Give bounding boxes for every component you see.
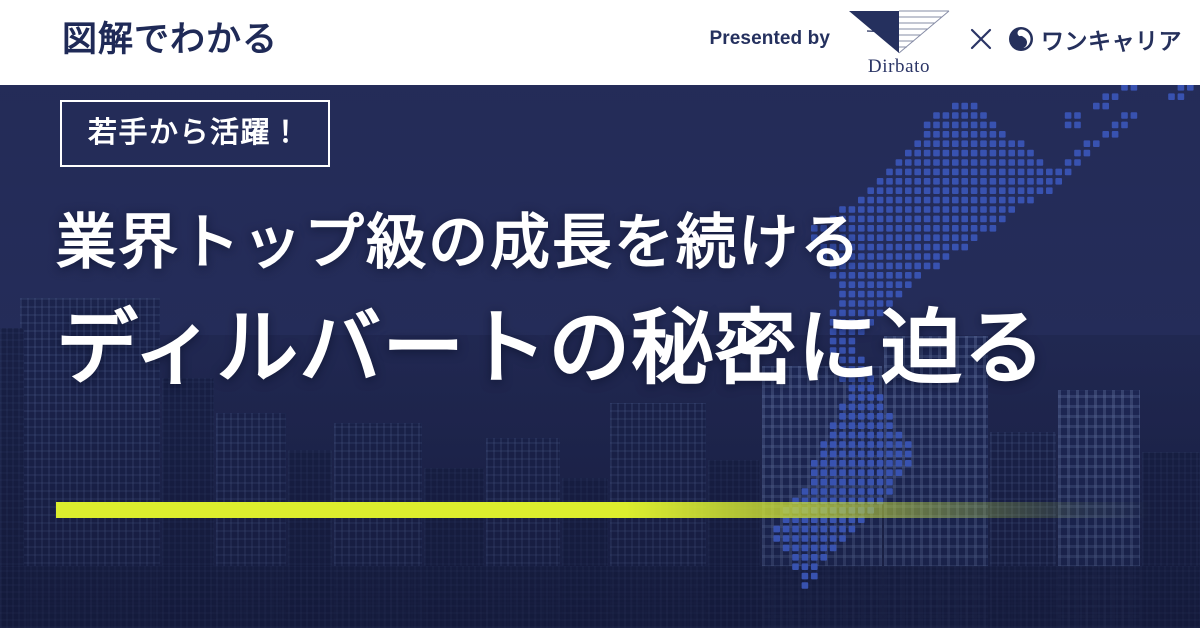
page-title: 図解でわかる [62, 17, 278, 63]
dirbato-logo[interactable]: Dirbato [844, 3, 954, 83]
banner-root: 図解でわかる Presented by [0, 0, 1200, 628]
page-header: 図解でわかる Presented by [0, 0, 1200, 85]
dirbato-wordmark: Dirbato [868, 56, 930, 78]
cross-separator-icon [968, 26, 994, 52]
status-badge: 若手から活躍！ [60, 100, 330, 167]
headline-line-1: 業界トップ級の成長を続ける [56, 207, 862, 279]
brand-bar: Presented by [709, 0, 1182, 85]
accent-underline [56, 502, 1152, 518]
onecareer-wordmark: ワンキャリア [1041, 22, 1182, 56]
onecareer-logo[interactable]: ワンキャリア [1008, 22, 1182, 56]
presented-by-label: Presented by [709, 28, 830, 50]
headline-line-2: ディルバートの秘密に迫る [56, 300, 1046, 398]
dirbato-triangle-icon [847, 9, 951, 55]
onecareer-spiral-icon [1008, 26, 1034, 52]
